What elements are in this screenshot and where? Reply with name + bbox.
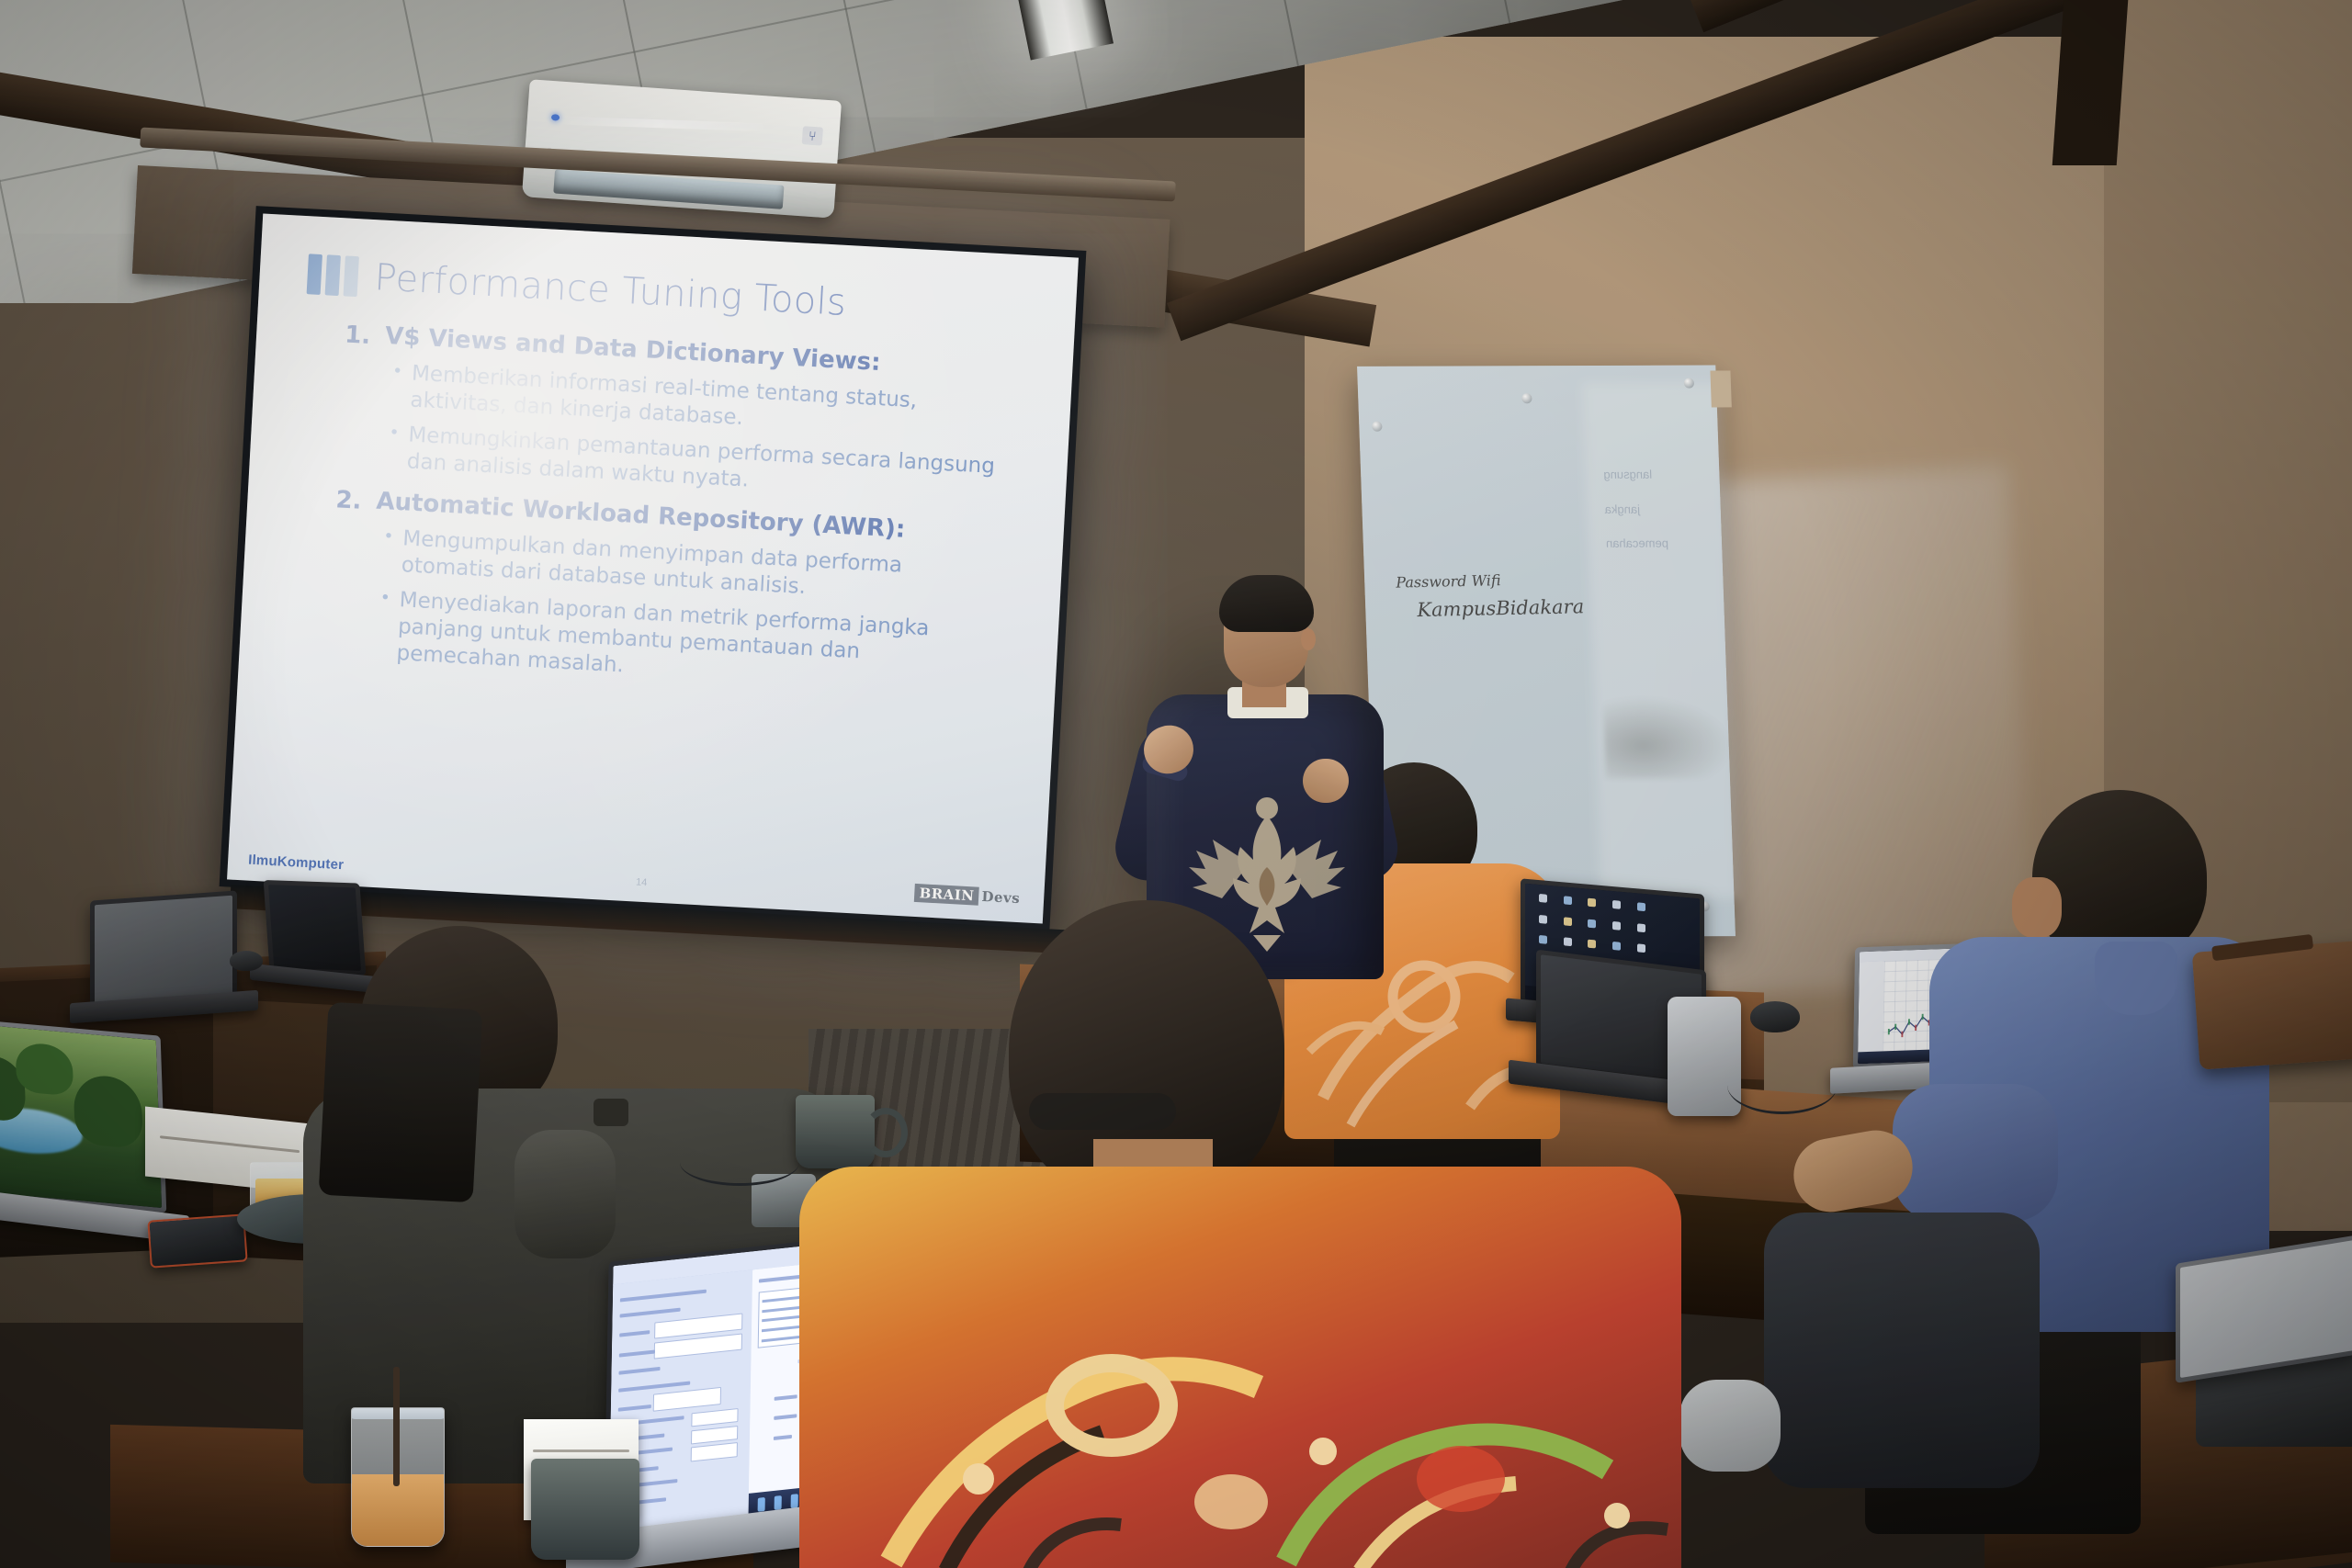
- projection-screen: Performance Tuning Tools 1. V$ Views and…: [220, 206, 1087, 931]
- slide-title-row: Performance Tuning Tools: [307, 253, 1035, 334]
- cable: [1727, 1056, 1837, 1114]
- attendee-legs: [1764, 1213, 2040, 1488]
- slide-item-number: 2.: [335, 486, 363, 514]
- mug-handle: [864, 1108, 908, 1157]
- presenter-hair: [1219, 575, 1314, 632]
- attendee-glasses-arm-icon: [1029, 1093, 1176, 1130]
- slide-bars-icon: [307, 254, 359, 297]
- screenshot-scene: Panasonic ⑂ Performance Tuning Tools 1. …: [0, 0, 2352, 1568]
- bullet-icon: •: [383, 525, 392, 578]
- whiteboard-wall-bracket: [1710, 370, 1731, 407]
- attendee-collar: [2095, 942, 2177, 1015]
- bullet-icon: •: [392, 359, 401, 412]
- chair-back: [319, 1002, 483, 1203]
- laptop-screen: [2180, 1240, 2352, 1378]
- name-card-line: [533, 1450, 629, 1452]
- attendee-collar: [594, 1099, 628, 1126]
- laptop-screen-back: [268, 885, 361, 971]
- whiteboard-text-line1: Password Wifi: [1396, 571, 1501, 591]
- bullet-icon: •: [379, 586, 390, 666]
- drinking-straw: [393, 1367, 400, 1486]
- slide-footer-brand: IlmuKomputer: [248, 852, 345, 874]
- slide-body: 1. V$ Views and Data Dictionary Views: •…: [281, 319, 1031, 700]
- whiteboard-mount-stud: [1521, 393, 1532, 403]
- wallpaper-tree: [73, 1073, 143, 1149]
- reflected-word: langsung: [1603, 457, 1714, 491]
- smartphone[interactable]: [147, 1213, 247, 1268]
- slide-title: Performance Tuning Tools: [373, 256, 847, 324]
- wireless-mouse[interactable]: [230, 951, 263, 971]
- laptop-lid: [0, 1018, 166, 1213]
- whiteboard-mount-stud: [1684, 378, 1694, 389]
- batik-motif-foreground: [808, 1176, 1681, 1568]
- attendee-neck: [2012, 877, 2062, 938]
- slide-item-number: 1.: [344, 321, 371, 350]
- tablet-device[interactable]: [1668, 997, 1741, 1116]
- presenter-right-hand: [1303, 759, 1349, 803]
- laptop-screen: [0, 1022, 162, 1208]
- slide-sub-list: • Memberikan informasi real-time tentang…: [389, 359, 1029, 508]
- attendee-shoulder: [514, 1130, 616, 1258]
- projection-screen-surface: Performance Tuning Tools 1. V$ Views and…: [227, 213, 1079, 923]
- coffee-mug-dark: [531, 1459, 639, 1560]
- slide-sub-list: • Mengumpulkan dan menyimpan data perfor…: [379, 525, 1020, 700]
- attendee-sock: [1679, 1380, 1781, 1472]
- whiteboard-text-line2: KampusBidakara: [1417, 595, 1585, 621]
- ac-logo-icon: ⑂: [802, 126, 823, 145]
- wireless-mouse[interactable]: [1750, 1001, 1800, 1032]
- laptop-lid: [90, 890, 237, 1009]
- cable: [680, 1139, 799, 1186]
- slide-logo: BRAIN Devs: [914, 884, 1021, 908]
- slide-logo-mark: BRAIN: [914, 884, 979, 906]
- whiteboard-slide-reflection: langsung jangka pemecahan: [1603, 457, 1717, 560]
- reflected-word: pemecahan: [1605, 526, 1716, 561]
- slide-page-number: 14: [636, 877, 648, 889]
- wall-column: [2052, 0, 2129, 165]
- chart-sidebar[interactable]: [1858, 961, 1883, 1052]
- presentation-slide: Performance Tuning Tools 1. V$ Views and…: [227, 213, 1079, 923]
- attendee-arm: [1893, 1084, 2058, 1222]
- slide-logo-word: Devs: [981, 888, 1021, 907]
- bullet-icon: •: [389, 421, 398, 474]
- presenter-hand-shadow: [1603, 695, 1735, 778]
- laptop-lid: [264, 880, 367, 976]
- name-card-line: [160, 1136, 300, 1154]
- laptop-screen-back: [95, 896, 232, 1004]
- wallpaper-landscape: [0, 1022, 162, 1208]
- reflected-word: jangka: [1604, 491, 1715, 526]
- leather-bag: [2192, 940, 2352, 1069]
- presenter-ear: [1301, 628, 1316, 650]
- whiteboard-mount-stud: [1372, 422, 1382, 432]
